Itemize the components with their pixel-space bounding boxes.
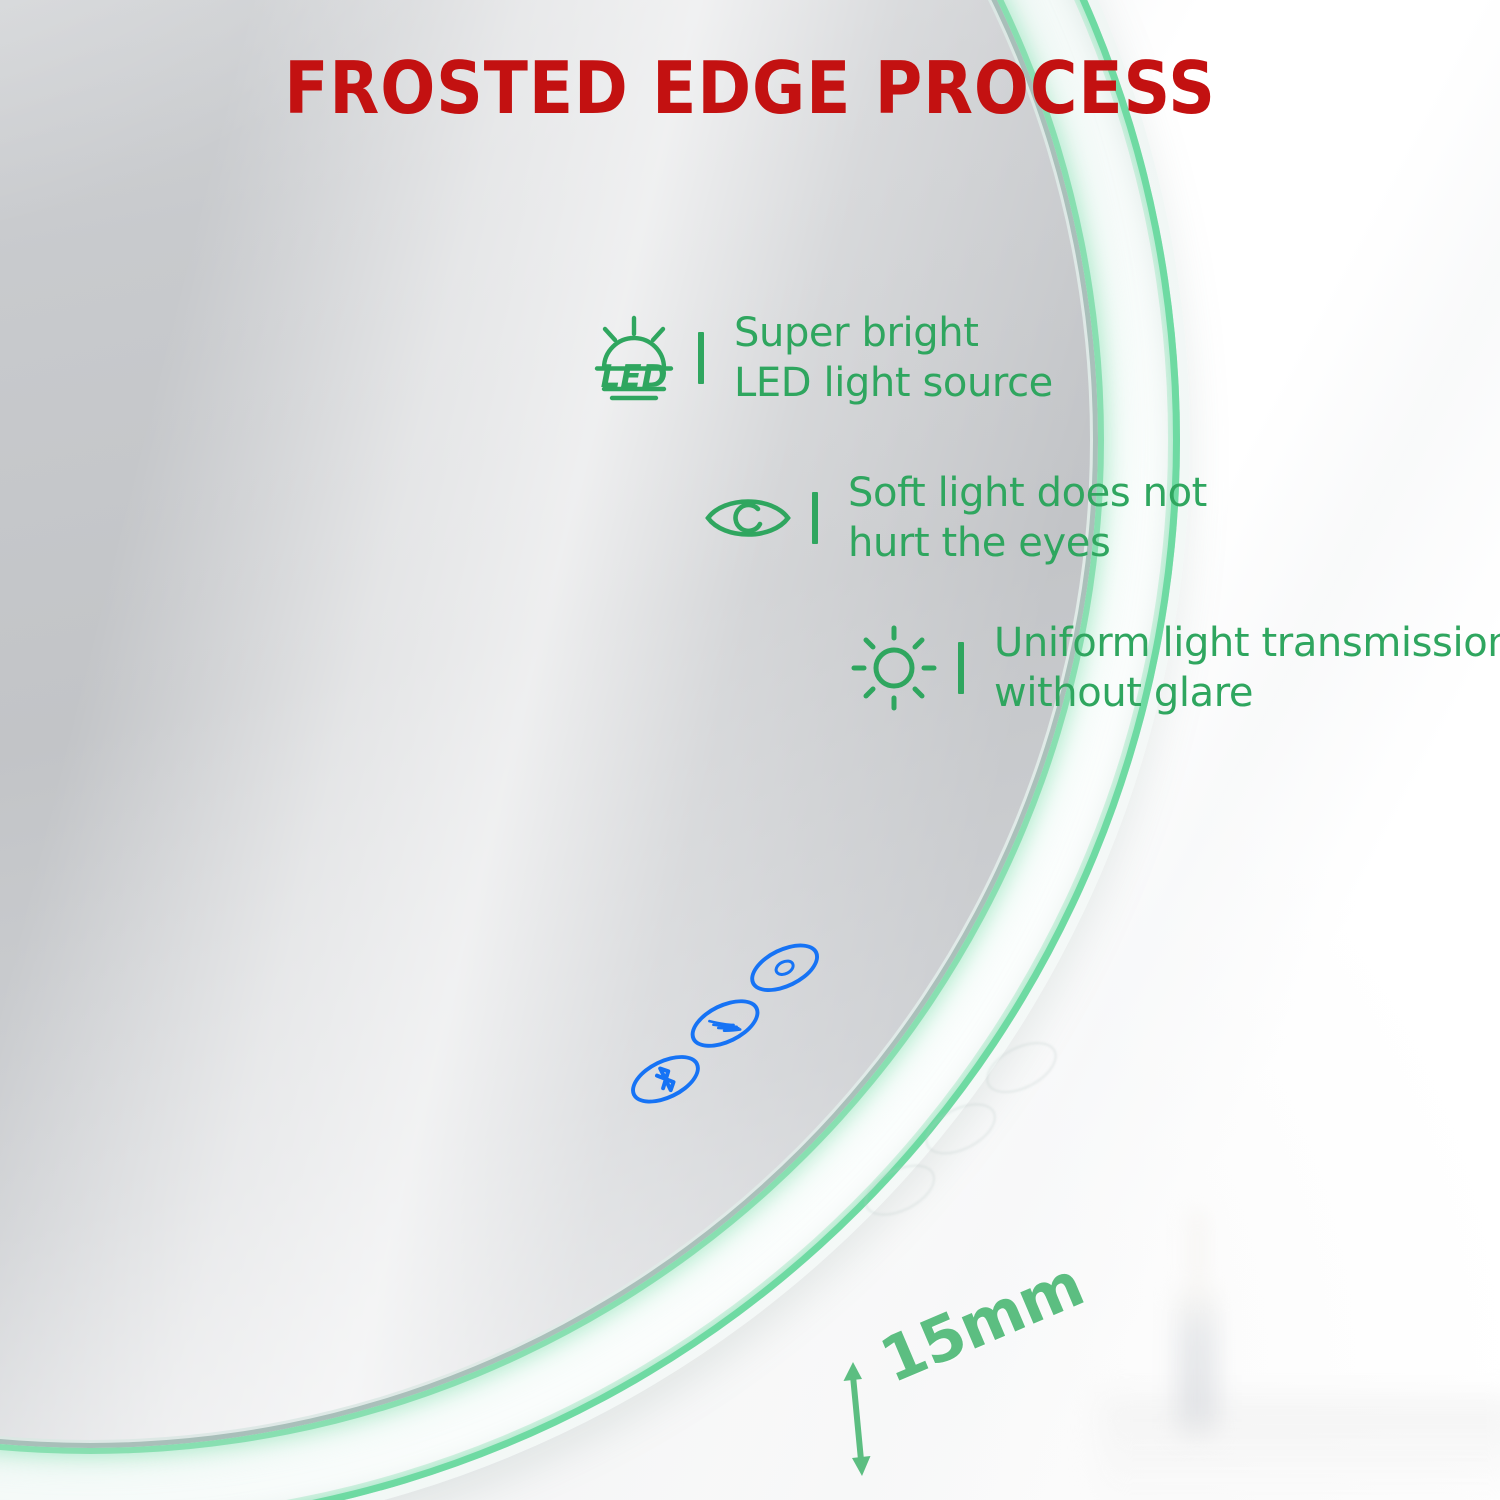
feature-text-sun: Uniform light transmission without glare [994,618,1500,719]
feature-item-eye: Soft light does not hurt the eyes [700,468,1207,569]
feature-eye-line-1: Soft light does not [848,468,1207,518]
feature-led-line-1: Super bright [734,308,1053,358]
eye-icon [700,489,796,547]
feature-item-led: LED Super bright LED light source [586,308,1053,409]
feature-list: LED Super bright LED light source Soft l… [0,0,1500,1500]
led-lamp-icon: LED [586,315,682,401]
feature-divider [958,642,964,694]
sun-icon [846,625,942,711]
feature-text-eye: Soft light does not hurt the eyes [848,468,1207,569]
feature-eye-line-2: hurt the eyes [848,518,1207,568]
feature-divider [812,492,818,544]
product-feature-image: 15mm FROSTED EDGE PROCESS [0,0,1500,1500]
feature-led-line-2: LED light source [734,358,1053,408]
feature-sun-line-1: Uniform light transmission [994,618,1500,668]
feature-item-sun: Uniform light transmission without glare [846,618,1500,719]
feature-divider [698,332,704,384]
feature-text-led: Super bright LED light source [734,308,1053,409]
led-wordmark: LED [601,359,668,395]
feature-sun-line-2: without glare [994,668,1500,718]
